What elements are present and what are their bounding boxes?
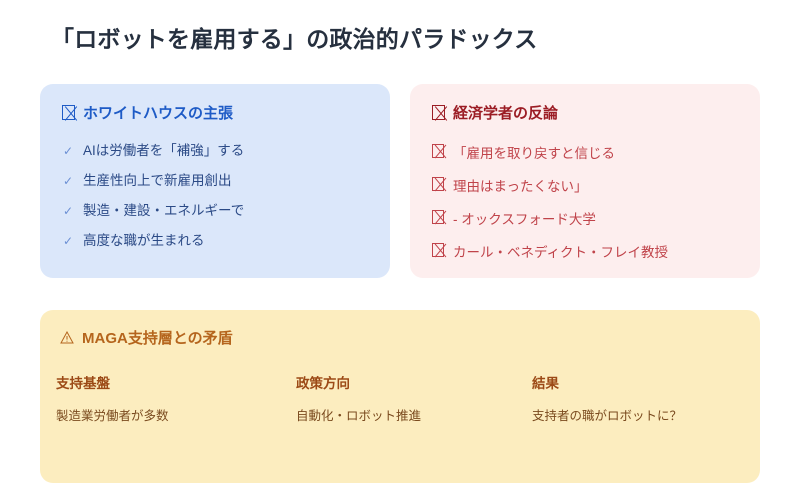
- list-item-label: 高度な職が生まれる: [83, 226, 205, 256]
- slide-root: 「ロボットを雇用する」の政治的パラドックス ホワイトハウスの主張 ✓ AIは労働…: [0, 0, 800, 500]
- tofu-box-icon: [432, 105, 445, 120]
- column-value: 製造業労働者が多数: [56, 405, 292, 424]
- list-item-label: カール・ベネディクト・フレイ教授: [453, 238, 668, 268]
- card-economists-rebuttal: 経済学者の反論 「雇用を取り戻すと信じる 理由はまったくない」 - オックスフォ…: [410, 84, 760, 278]
- card-maga-contradiction: MAGA支持層との矛盾 支持基盤 製造業労働者が多数 政策方向 自動化・ロボット…: [40, 310, 760, 483]
- column-title: 結果: [532, 372, 768, 392]
- list-item: 「雇用を取り戻すと信じる: [432, 136, 746, 169]
- tofu-box-icon: [62, 105, 75, 120]
- list-item: ✓ 製造・建設・エネルギーで: [62, 196, 376, 226]
- check-icon: ✓: [62, 205, 74, 217]
- column-title: 支持基盤: [56, 372, 292, 392]
- list-item: ✓ 生産性向上で新雇用創出: [62, 166, 376, 196]
- economists-rebuttal-list: 「雇用を取り戻すと信じる 理由はまったくない」 - オックスフォード大学 カール…: [432, 136, 746, 268]
- page-title: 「ロボットを雇用する」の政治的パラドックス: [51, 20, 538, 54]
- maga-column-support-base: 支持基盤 製造業労働者が多数: [56, 372, 292, 424]
- maga-columns: 支持基盤 製造業労働者が多数 政策方向 自動化・ロボット推進 結果 支持者の職が…: [56, 372, 744, 424]
- check-icon: ✓: [62, 145, 74, 157]
- card-white-house-claims: ホワイトハウスの主張 ✓ AIは労働者を「補強」する ✓ 生産性向上で新雇用創出…: [40, 84, 390, 278]
- tofu-box-icon-wrap: [432, 169, 444, 199]
- warning-triangle-icon: [60, 331, 74, 344]
- list-item: 理由はまったくない」: [432, 169, 746, 202]
- list-item-label: 「雇用を取り戻すと信じる: [453, 139, 615, 169]
- tofu-box-icon-wrap: [432, 136, 444, 166]
- list-item-label: - オックスフォード大学: [453, 205, 596, 235]
- tofu-box-icon-wrap: [432, 202, 444, 232]
- tofu-box-icon: [432, 144, 444, 158]
- card-heading-economists: 経済学者の反論: [432, 102, 558, 123]
- list-item: ✓ 高度な職が生まれる: [62, 226, 376, 256]
- list-item-label: 製造・建設・エネルギーで: [83, 196, 244, 226]
- white-house-claims-list: ✓ AIは労働者を「補強」する ✓ 生産性向上で新雇用創出 ✓ 製造・建設・エネ…: [62, 136, 376, 256]
- card-heading-label: MAGA支持層との矛盾: [82, 327, 233, 348]
- tofu-box-icon: [432, 177, 444, 191]
- check-icon: ✓: [62, 235, 74, 247]
- column-title: 政策方向: [296, 372, 532, 392]
- list-item: - オックスフォード大学: [432, 202, 746, 235]
- list-item-label: 理由はまったくない」: [453, 172, 587, 202]
- tofu-box-icon-wrap: [432, 235, 444, 265]
- card-heading-maga: MAGA支持層との矛盾: [60, 327, 233, 348]
- tofu-box-icon: [432, 210, 444, 224]
- card-heading-label: ホワイトハウスの主張: [83, 102, 233, 123]
- list-item-label: AIは労働者を「補強」する: [83, 136, 244, 166]
- list-item-label: 生産性向上で新雇用創出: [83, 166, 232, 196]
- list-item: カール・ベネディクト・フレイ教授: [432, 235, 746, 268]
- card-heading-label: 経済学者の反論: [453, 102, 558, 123]
- check-icon: ✓: [62, 175, 74, 187]
- list-item: ✓ AIは労働者を「補強」する: [62, 136, 376, 166]
- card-heading-white-house: ホワイトハウスの主張: [62, 102, 233, 123]
- maga-column-policy-direction: 政策方向 自動化・ロボット推進: [296, 372, 532, 424]
- tofu-box-icon: [432, 243, 444, 257]
- column-value: 自動化・ロボット推進: [296, 405, 532, 424]
- column-value: 支持者の職がロボットに？: [532, 405, 768, 424]
- maga-column-result: 結果 支持者の職がロボットに？: [532, 372, 768, 424]
